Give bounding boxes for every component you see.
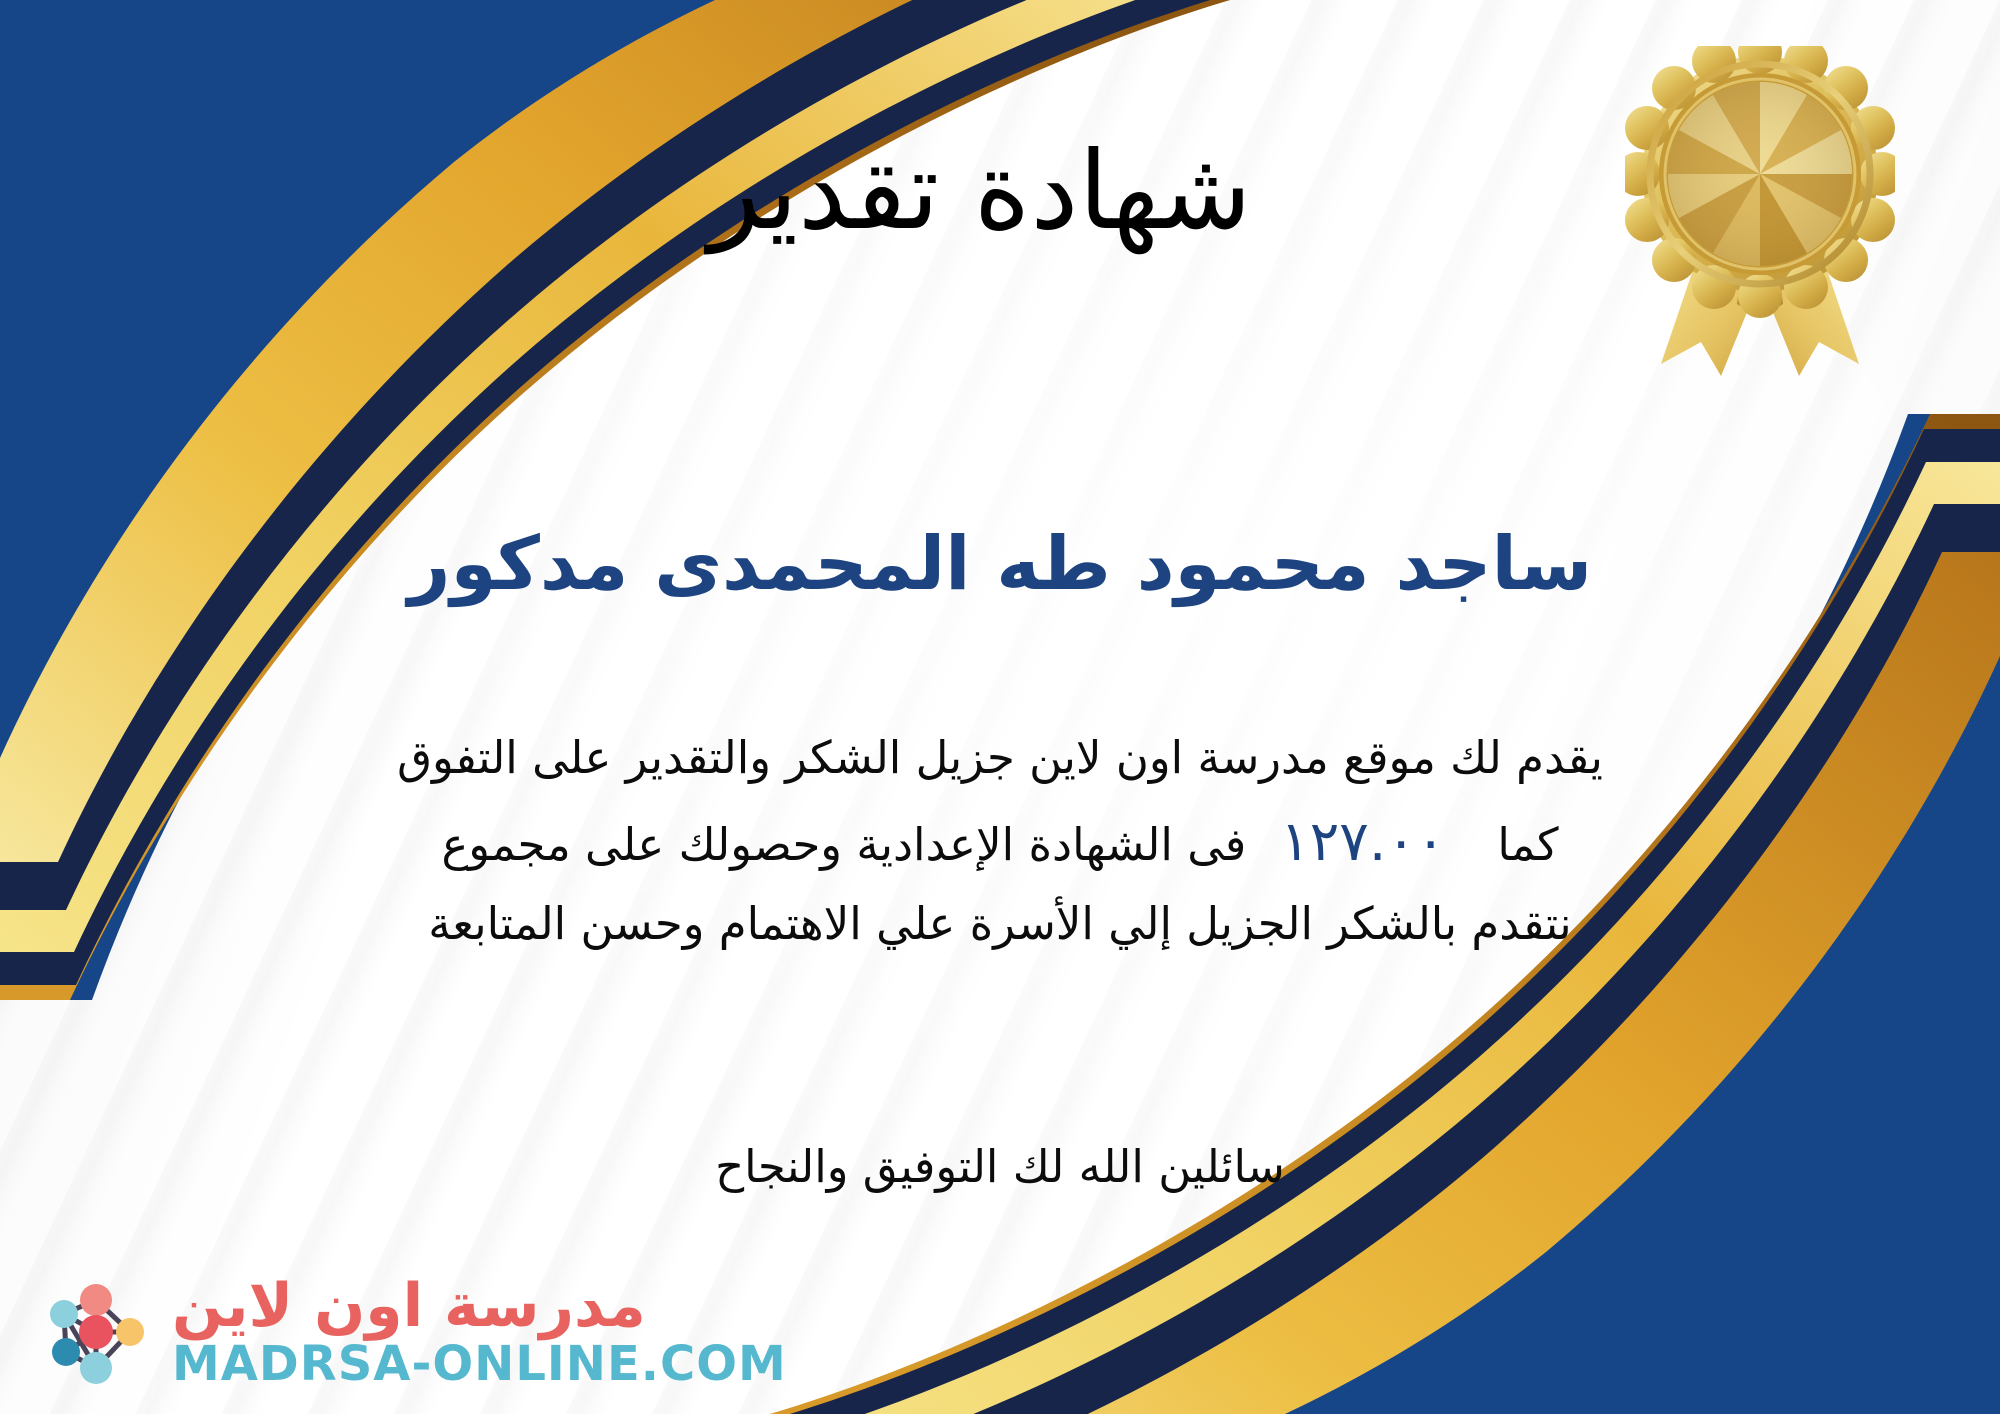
medal-face: [1668, 82, 1852, 266]
node-light-teal: [50, 1300, 78, 1328]
body-line-1: يقدم لك موقع مدرسة اون لاين جزيل الشكر و…: [110, 726, 1890, 790]
closing-wish-line: سائلين الله لك التوفيق والنجاح: [0, 1140, 2000, 1193]
body-line-2-prefix: فى الشهادة الإعدادية وحصولك على مجموع: [441, 813, 1246, 877]
node-amber: [116, 1318, 144, 1346]
node-teal: [80, 1352, 112, 1384]
body-line-3: نتقدم بالشكر الجزيل إلي الأسرة علي الاهت…: [110, 892, 1890, 956]
brand-logo[interactable]: مدرسة اون لاين MADRSA-ONLINE.COM: [34, 1270, 787, 1394]
network-nodes-icon: [34, 1270, 158, 1394]
body-line-2-suffix: كما: [1497, 813, 1558, 877]
node-salmon: [80, 1284, 112, 1316]
node-red: [79, 1315, 113, 1349]
gold-award-rosette-icon: [1625, 46, 1895, 376]
recipient-name: ساجد محمود طه المحمدى مدكور: [0, 520, 2000, 609]
brand-wordmark: مدرسة اون لاين MADRSA-ONLINE.COM: [172, 1276, 787, 1388]
node-blue: [52, 1338, 80, 1366]
brand-name-arabic: مدرسة اون لاين: [172, 1276, 646, 1336]
certificate-canvas: شهادة تقدير ساجد محمود طه المحمدى مدكور …: [0, 0, 2000, 1414]
certificate-body: يقدم لك موقع مدرسة اون لاين جزيل الشكر و…: [110, 726, 1890, 968]
total-score-value: ١٢٧.٠٠: [1280, 802, 1445, 880]
body-line-2: كما ١٢٧.٠٠ فى الشهادة الإعدادية وحصولك ع…: [110, 802, 1890, 880]
brand-website: MADRSA-ONLINE.COM: [172, 1340, 787, 1388]
